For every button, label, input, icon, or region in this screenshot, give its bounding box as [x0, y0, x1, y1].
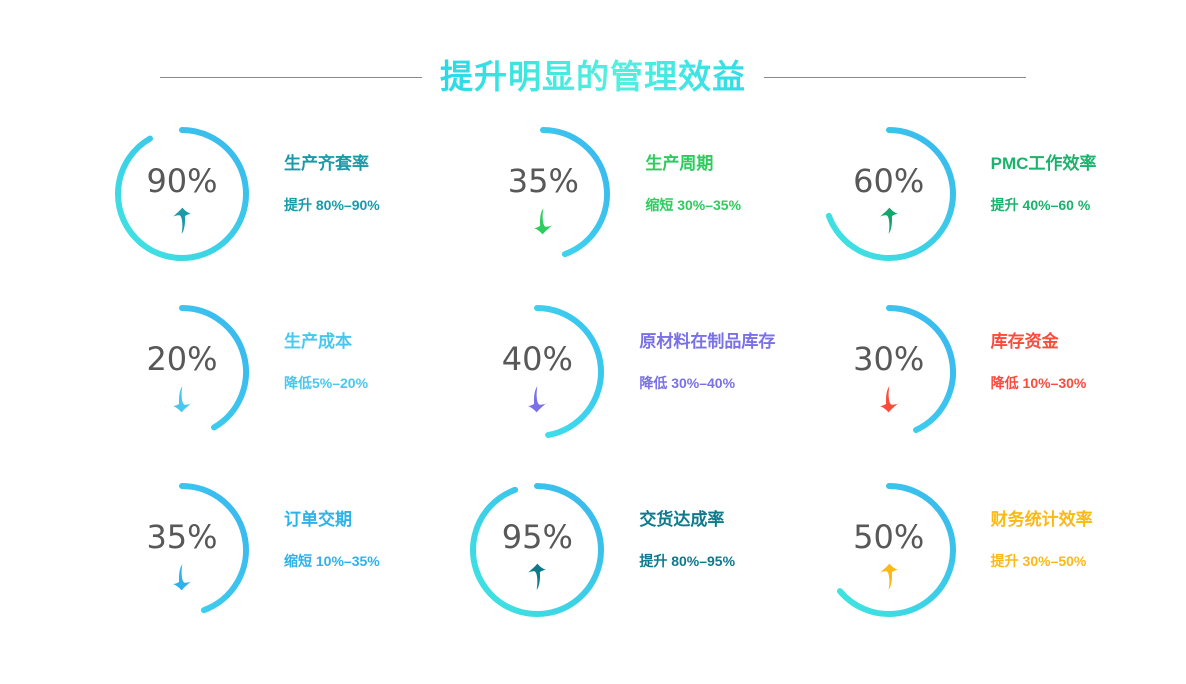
metric-card-pmc-work-efficiency: 60% PMC工作效率 提升 40%–60 %	[791, 118, 1186, 296]
metric-text-production-cycle: 生产周期 缩短 30%–35%	[619, 118, 741, 214]
trend-arrow-up-icon	[813, 206, 965, 236]
header-rule-left	[160, 77, 422, 78]
metric-subtitle: 提升 80%–95%	[639, 552, 735, 570]
trend-arrow-up-icon	[461, 562, 613, 592]
metric-subtitle: 提升 40%–60 %	[991, 196, 1097, 214]
donut-gauge-inventory-capital: 30%	[813, 296, 965, 448]
metric-text-production-cost: 生产成本 降低5%–20%	[258, 296, 368, 392]
metrics-grid: 90% 生产齐套率 提升 80%–90% 35%	[0, 118, 1186, 664]
donut-gauge-production-kitting-rate: 90%	[106, 118, 258, 270]
metric-title: 交货达成率	[639, 510, 735, 530]
gauge-value-label: 50%	[813, 518, 965, 556]
gauge-value-label: 30%	[813, 340, 965, 378]
metric-title: 财务统计效率	[991, 510, 1093, 530]
metric-subtitle: 提升 80%–90%	[284, 196, 380, 214]
metric-card-production-cost: 20% 生产成本 降低5%–20%	[0, 296, 395, 474]
header-rule-right	[764, 77, 1026, 78]
trend-arrow-down-icon	[813, 384, 965, 414]
metric-title: 原材料在制品库存	[639, 332, 775, 352]
metric-card-production-cycle: 35% 生产周期 缩短 30%–35%	[395, 118, 790, 296]
donut-gauge-delivery-achievement-rate: 95%	[461, 474, 613, 626]
gauge-value-label: 35%	[106, 518, 258, 556]
metric-text-production-kitting-rate: 生产齐套率 提升 80%–90%	[258, 118, 380, 214]
metric-title: PMC工作效率	[991, 154, 1097, 174]
metric-subtitle: 缩短 30%–35%	[645, 196, 741, 214]
metric-card-financial-statistics-efficiency: 50% 财务统计效率 提升 30%–50%	[791, 474, 1186, 652]
trend-arrow-up-icon	[106, 206, 258, 236]
donut-gauge-financial-statistics-efficiency: 50%	[813, 474, 965, 626]
trend-arrow-down-icon	[106, 384, 258, 414]
metric-card-delivery-achievement-rate: 95% 交货达成率 提升 80%–95%	[395, 474, 790, 652]
gauge-value-label: 90%	[106, 162, 258, 200]
donut-gauge-production-cost: 20%	[106, 296, 258, 448]
gauge-value-label: 20%	[106, 340, 258, 378]
trend-arrow-up-icon	[813, 562, 965, 592]
donut-gauge-raw-material-wip-inventory: 40%	[461, 296, 613, 448]
metric-title: 生产齐套率	[284, 154, 380, 174]
metric-text-financial-statistics-efficiency: 财务统计效率 提升 30%–50%	[965, 474, 1093, 570]
metric-text-pmc-work-efficiency: PMC工作效率 提升 40%–60 %	[965, 118, 1097, 214]
trend-arrow-down-icon	[461, 384, 613, 414]
metric-text-raw-material-wip-inventory: 原材料在制品库存 降低 30%–40%	[613, 296, 775, 392]
metric-card-raw-material-wip-inventory: 40% 原材料在制品库存 降低 30%–40%	[395, 296, 790, 474]
metric-text-order-delivery-lead-time: 订单交期 缩短 10%–35%	[258, 474, 380, 570]
gauge-value-label: 95%	[461, 518, 613, 556]
metric-title: 库存资金	[991, 332, 1087, 352]
metric-text-inventory-capital: 库存资金 降低 10%–30%	[965, 296, 1087, 392]
metric-card-production-kitting-rate: 90% 生产齐套率 提升 80%–90%	[0, 118, 395, 296]
gauge-value-label: 35%	[467, 162, 619, 200]
metric-subtitle: 降低 10%–30%	[991, 374, 1087, 392]
metric-title: 生产成本	[284, 332, 368, 352]
trend-arrow-down-icon	[467, 206, 619, 236]
metric-subtitle: 降低5%–20%	[284, 374, 368, 392]
slide-canvas: 提升明显的管理效益 90% 生产齐套率 提升	[0, 0, 1186, 684]
donut-gauge-pmc-work-efficiency: 60%	[813, 118, 965, 270]
page-header: 提升明显的管理效益	[0, 54, 1186, 100]
gauge-value-label: 40%	[461, 340, 613, 378]
donut-gauge-order-delivery-lead-time: 35%	[106, 474, 258, 626]
metric-text-delivery-achievement-rate: 交货达成率 提升 80%–95%	[613, 474, 735, 570]
metric-card-order-delivery-lead-time: 35% 订单交期 缩短 10%–35%	[0, 474, 395, 652]
metric-subtitle: 缩短 10%–35%	[284, 552, 380, 570]
donut-gauge-production-cycle: 35%	[467, 118, 619, 270]
metric-subtitle: 降低 30%–40%	[639, 374, 775, 392]
metric-card-inventory-capital: 30% 库存资金 降低 10%–30%	[791, 296, 1186, 474]
metric-title: 订单交期	[284, 510, 380, 530]
metric-title: 生产周期	[645, 154, 741, 174]
trend-arrow-down-icon	[106, 562, 258, 592]
gauge-value-label: 60%	[813, 162, 965, 200]
page-title: 提升明显的管理效益	[440, 55, 746, 99]
metric-subtitle: 提升 30%–50%	[991, 552, 1093, 570]
